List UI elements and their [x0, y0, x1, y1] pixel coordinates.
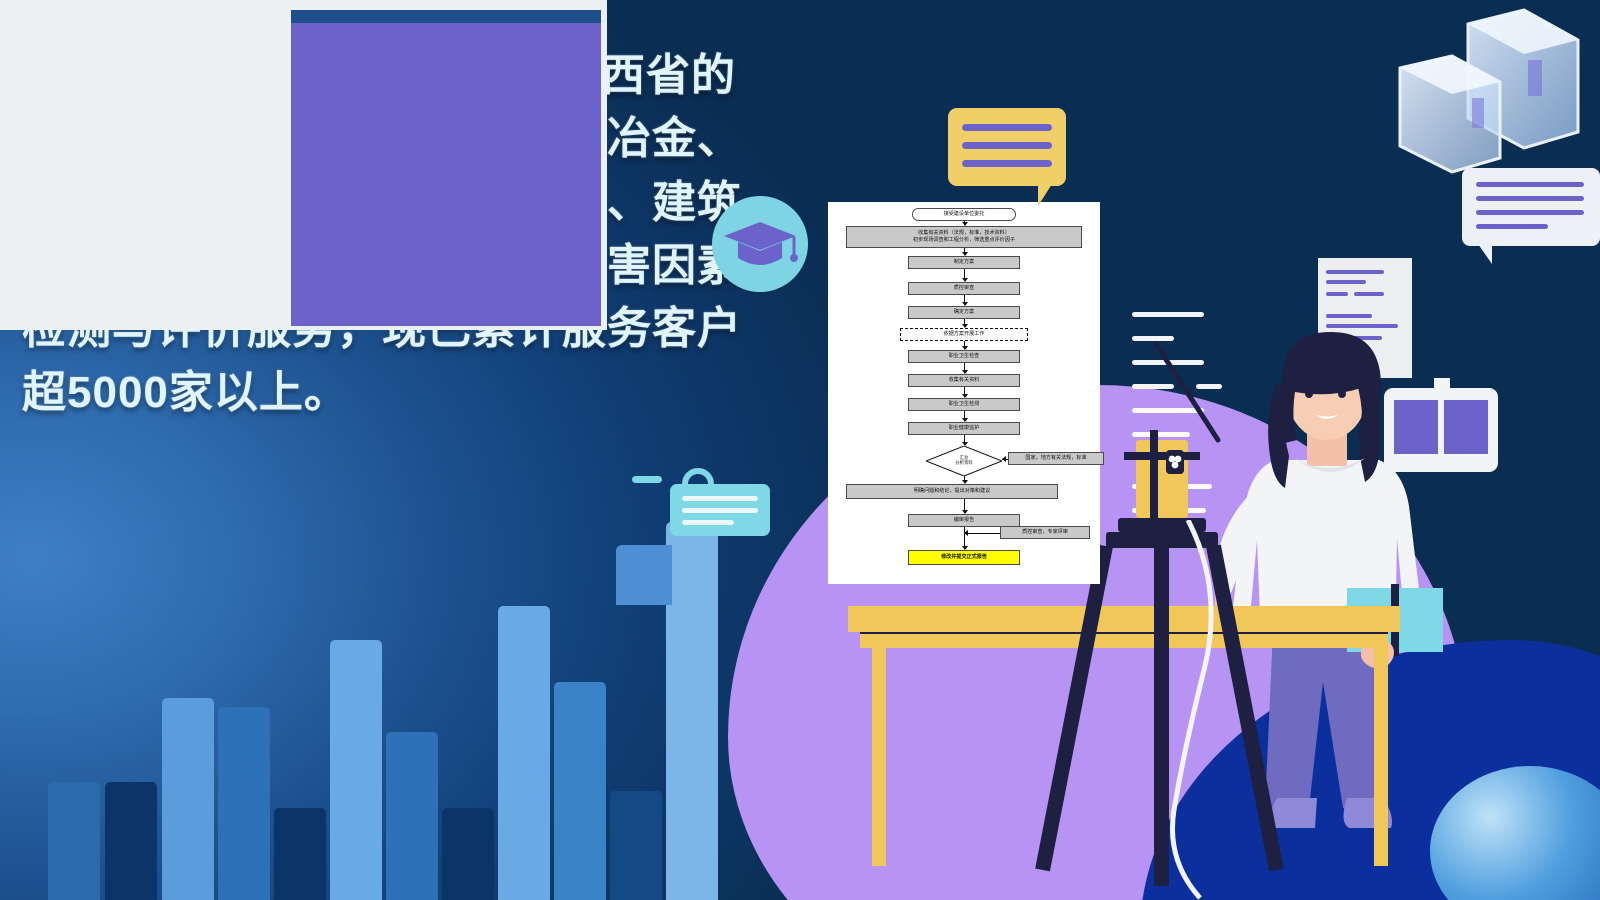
- chart-bar: [386, 732, 438, 900]
- flowchart-node: 制定方案: [908, 256, 1020, 269]
- chart-bar: [442, 808, 494, 900]
- bubble-text-line: [1476, 224, 1548, 229]
- flowchart-node-label: 接受建设单位委托: [942, 211, 987, 218]
- flowchart-node: 收集有关资料（法规，标准，技术资料） 初步现场调查和工程分析，筛选重点评价因子: [846, 226, 1082, 248]
- poster-text-line: [1380, 324, 1398, 328]
- bubble-text-line: [1476, 196, 1584, 201]
- card-text-line: [682, 520, 734, 525]
- poster-canvas: 服务流程规范高效，为江西省的采矿业、化工、石化及医药、冶金、建材、机械制造、电力…: [0, 0, 1600, 900]
- yellow-desk-top: [848, 606, 1400, 632]
- flowchart-node-label: 职业健康监护: [947, 425, 982, 432]
- flowchart-side-node-label: 质控审查，专家评审: [1022, 529, 1068, 536]
- flowchart-node-label: 收集有关资料（法规，标准，技术资料） 初步现场调查和工程分析，筛选重点评价因子: [911, 230, 1017, 243]
- flowchart-node: 确定方案: [908, 306, 1020, 319]
- flowchart-node-label: 质控审查: [952, 285, 976, 292]
- instrument-cable: [1130, 520, 1260, 900]
- blue-card-decoration: [616, 545, 672, 605]
- flowchart-arrowhead: [1002, 456, 1006, 462]
- flowchart-arrowhead: [962, 418, 968, 422]
- pointer-stick: [1152, 340, 1232, 455]
- chart-bar: [48, 782, 100, 900]
- flowchart-arrowhead: [964, 530, 968, 536]
- bubble-text-line: [962, 124, 1052, 131]
- flowchart-node: 汇总 分析资料: [926, 446, 1002, 476]
- chart-bar: [330, 640, 382, 900]
- flowchart-arrowhead: [962, 370, 968, 374]
- flowchart-node: 职业卫生检测: [908, 398, 1020, 411]
- dash-decoration: [632, 476, 662, 483]
- graduation-cap-icon: [712, 196, 808, 292]
- flowchart-arrowhead: [962, 346, 968, 350]
- presentation-board: [0, 0, 607, 330]
- flowchart-side-node: 国家，地方有关法规，标准: [1008, 452, 1104, 465]
- card-text-line: [682, 508, 758, 513]
- bubble-text-line: [962, 142, 1052, 149]
- bubble-text-line: [1476, 210, 1584, 215]
- background-bar-chart: [0, 480, 720, 900]
- poster-text-line: [1326, 314, 1372, 318]
- flowchart-arrowhead: [962, 480, 968, 484]
- flowchart-node: 明确问题和结论，提出对策和建议: [846, 484, 1058, 499]
- chart-bar: [105, 782, 157, 900]
- flowchart-node: 接受建设单位委托: [912, 208, 1016, 221]
- poster-text-line: [1326, 324, 1382, 328]
- chart-bar: [218, 707, 270, 900]
- card-text-line: [682, 496, 758, 501]
- flowchart-side-node-label: 国家，地方有关法规，标准: [1025, 455, 1086, 462]
- flowchart-connector: [964, 533, 1000, 534]
- survey-instrument-arm: [1124, 452, 1200, 460]
- flowchart-arrowhead: [962, 546, 968, 550]
- flowchart-node: 职业健康监护: [908, 422, 1020, 435]
- flowchart-panel: 接受建设单位委托收集有关资料（法规，标准，技术资料） 初步现场调查和工程分析，筛…: [828, 202, 1100, 584]
- flowchart-node-label: 汇总 分析资料: [955, 456, 973, 467]
- chart-bar: [554, 682, 606, 900]
- flowchart-node-label: 职业卫生检查: [947, 353, 982, 360]
- flowchart-arrowhead: [962, 252, 968, 256]
- flowchart-node-label: 明确问题和结论，提出对策和建议: [912, 488, 992, 495]
- chalk-line: [1132, 312, 1204, 317]
- flowchart-node-label: 修改并提交正式报告: [939, 554, 989, 561]
- bubble-text-line: [1476, 182, 1584, 187]
- flowchart-node: 质控审查: [908, 282, 1020, 295]
- flowchart-node-label: 职业卫生检测: [947, 401, 982, 408]
- chart-bar: [274, 808, 326, 900]
- poster-text-line: [1326, 280, 1366, 284]
- chart-bar: [162, 698, 214, 900]
- flowchart-arrowhead: [962, 222, 968, 226]
- flowchart-node: 职业卫生检查: [908, 350, 1020, 363]
- flowchart-side-node: 质控审查，专家评审: [1000, 526, 1090, 539]
- cyan-info-card: [670, 484, 770, 536]
- flowchart-node-label: 确定方案: [952, 309, 976, 316]
- chart-bar: [610, 791, 662, 900]
- flowchart-arrowhead: [962, 510, 968, 514]
- flowchart-arrowhead: [962, 394, 968, 398]
- flowchart-node: 收集有关资料: [908, 374, 1020, 387]
- board-surface: [291, 10, 601, 326]
- desk-leg-right: [1374, 646, 1388, 866]
- chart-bar: [498, 606, 550, 900]
- flowchart-arrowhead: [962, 278, 968, 282]
- flowchart-arrowhead: [962, 324, 968, 328]
- flowchart-node-label: 编审报告: [952, 517, 976, 524]
- survey-instrument-lens: [1166, 450, 1184, 474]
- flowchart-arrowhead: [962, 442, 968, 446]
- poster-text-line: [1326, 292, 1348, 296]
- poster-text-line: [1326, 270, 1384, 274]
- flowchart-node: 修改并提交正式报告: [908, 550, 1020, 565]
- yellow-speech-bubble: [948, 108, 1066, 186]
- flowchart-arrowhead: [962, 302, 968, 306]
- poster-text-line: [1354, 292, 1384, 296]
- survey-instrument-post: [1150, 430, 1158, 530]
- bubble-text-line: [962, 160, 1052, 167]
- flowchart-node-label: 制定方案: [952, 259, 976, 266]
- flowchart-node-label: 收集有关资料: [947, 377, 982, 384]
- board-top-rail: [291, 10, 601, 23]
- flowchart-node: 依据方案开展工作: [900, 328, 1028, 341]
- desk-leg-left: [872, 646, 886, 866]
- chart-bar: [666, 522, 718, 900]
- white-speech-bubble: [1462, 168, 1600, 246]
- flowchart-node-label: 依据方案开展工作: [942, 331, 987, 338]
- yellow-desk-apron: [860, 632, 1388, 648]
